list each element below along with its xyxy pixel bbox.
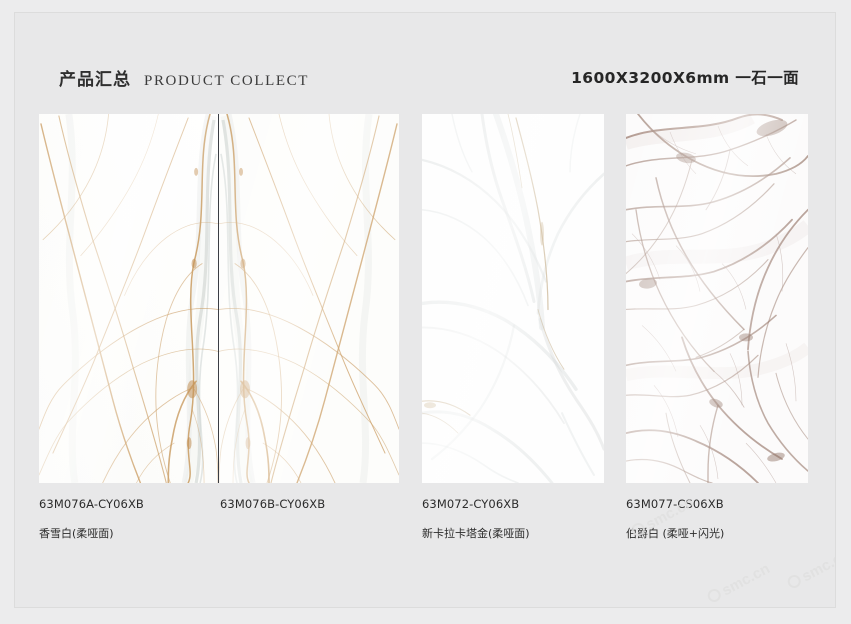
product-name-1: 香雪白(柔哑面): [39, 525, 144, 541]
slab-image-4[interactable]: [626, 114, 808, 483]
product-caption-4: 63M077-CS06XB 伯爵白 (柔哑+闪光): [626, 497, 724, 541]
product-name-4: 伯爵白 (柔哑+闪光): [626, 525, 724, 541]
product-caption-2: 63M076B-CY06XB: [220, 497, 325, 525]
marble-veins-1: [39, 114, 218, 483]
slab-image-1[interactable]: [39, 114, 218, 483]
catalog-page: 产品汇总 PRODUCT COLLECT 1600X3200X6mm 一石一面: [14, 12, 836, 608]
marble-veins-3: [422, 114, 604, 483]
slab-image-2[interactable]: [219, 114, 399, 483]
product-name-3: 新卡拉卡塔金(柔哑面): [422, 525, 530, 541]
marble-veins-2: [219, 114, 399, 483]
product-caption-3: 63M072-CY06XB 新卡拉卡塔金(柔哑面): [422, 497, 530, 541]
product-caption-1: 63M076A-CY06XB 香雪白(柔哑面): [39, 497, 144, 541]
bookmatch-seam: [218, 114, 219, 483]
product-code-3: 63M072-CY06XB: [422, 497, 530, 511]
slab-image-3[interactable]: [422, 114, 604, 483]
marble-veins-4: [626, 114, 808, 483]
product-code-4: 63M077-CS06XB: [626, 497, 724, 511]
product-code-2: 63M076B-CY06XB: [220, 497, 325, 511]
product-code-1: 63M076A-CY06XB: [39, 497, 144, 511]
